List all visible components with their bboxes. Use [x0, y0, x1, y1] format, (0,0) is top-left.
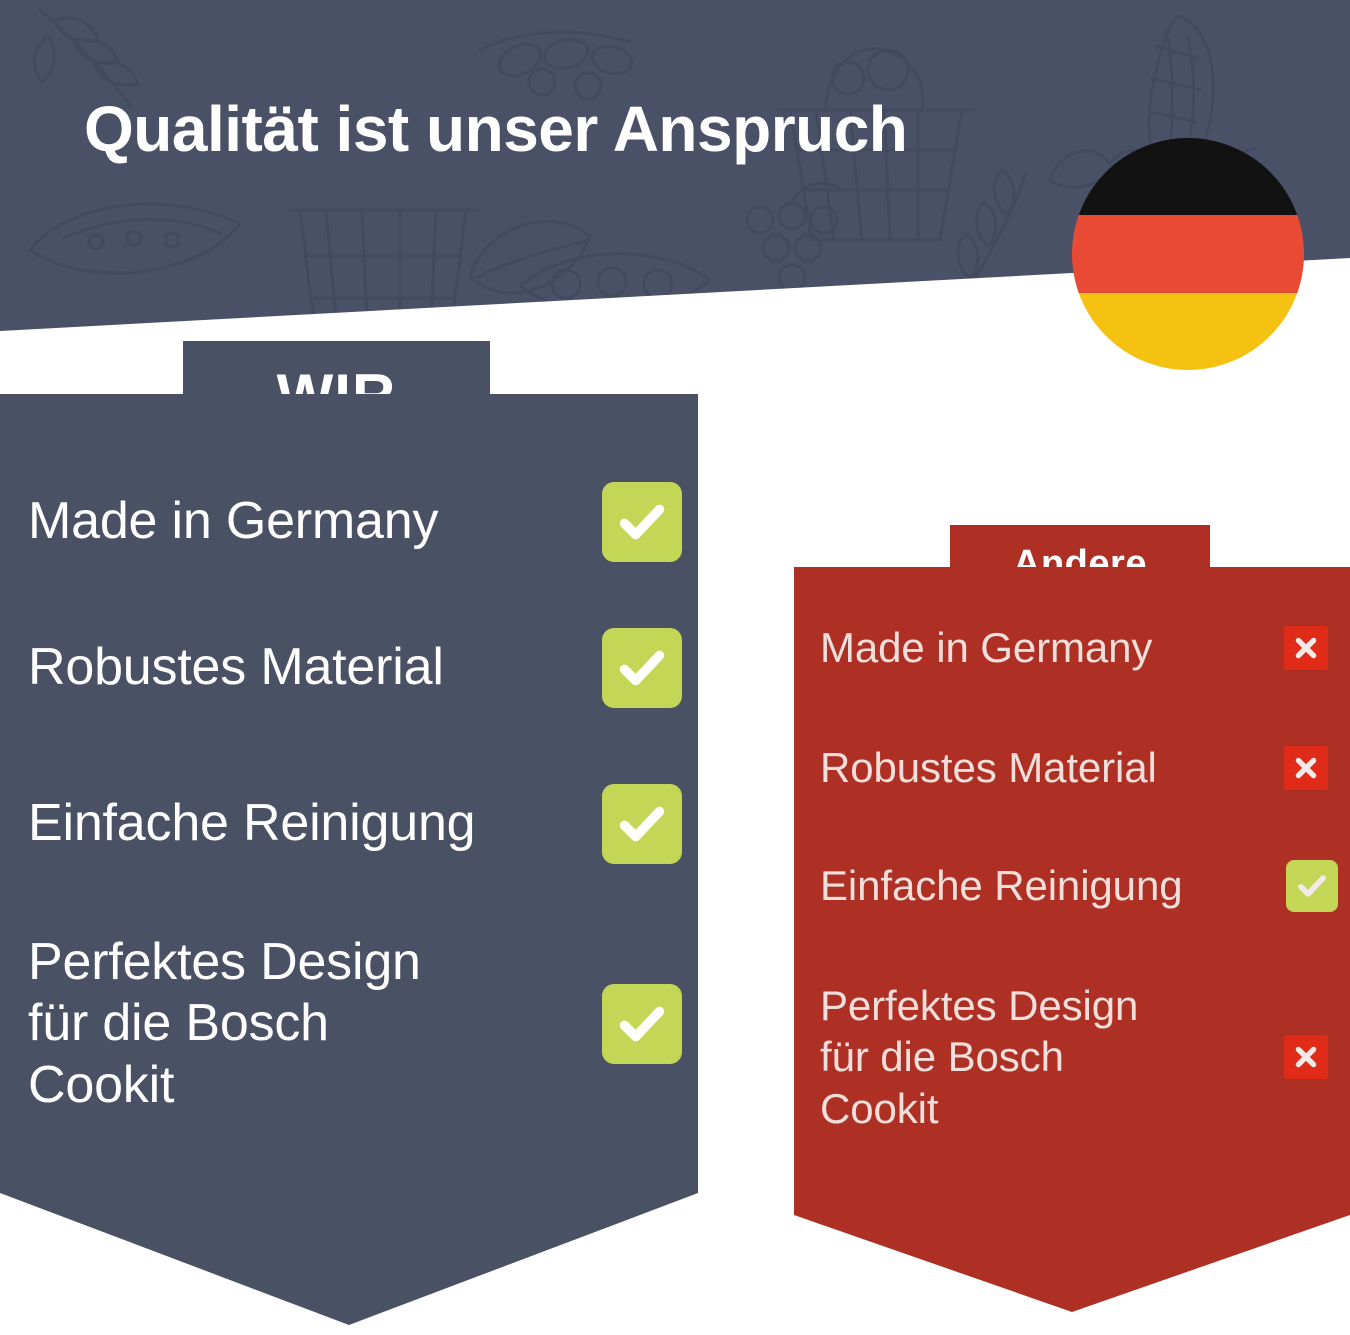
list-item: Einfache Reinigung: [820, 860, 1338, 912]
germany-flag-icon: [1072, 138, 1304, 370]
list-item-label: Perfektes Design für die Bosch Cookit: [28, 932, 421, 1116]
list-item: Robustes Material: [820, 742, 1328, 794]
list-item: Einfache Reinigung: [28, 784, 682, 864]
cross-icon: [1284, 1035, 1328, 1079]
list-item: Robustes Material: [28, 628, 682, 708]
cross-icon: [1284, 626, 1328, 670]
check-icon: [1286, 860, 1338, 912]
flag-band-red: [1072, 215, 1304, 292]
page-title: Qualität ist unser Anspruch: [84, 96, 907, 163]
comparison-infographic: Qualität ist unser Anspruch WIR Made in …: [0, 0, 1350, 1335]
panel-wir-body: Made in Germany Robustes Material Einfac…: [0, 394, 698, 1325]
list-item: Perfektes Design für die Bosch Cookit: [820, 972, 1328, 1142]
list-item-label: Made in Germany: [28, 491, 438, 552]
list-item-label: Robustes Material: [820, 742, 1157, 793]
check-icon: [602, 784, 682, 864]
panel-wir-tab: WIR: [183, 341, 490, 397]
list-item: Made in Germany: [820, 622, 1328, 674]
list-item-label: Perfektes Design für die Bosch Cookit: [820, 980, 1138, 1134]
cross-icon: [1284, 746, 1328, 790]
flag-band-gold: [1072, 293, 1304, 370]
list-item: Made in Germany: [28, 482, 682, 562]
check-icon: [602, 628, 682, 708]
list-item-label: Einfache Reinigung: [28, 793, 475, 854]
list-item-label: Einfache Reinigung: [820, 860, 1182, 911]
check-icon: [602, 482, 682, 562]
list-item: Perfektes Design für die Bosch Cookit: [28, 924, 682, 1124]
check-icon: [602, 984, 682, 1064]
list-item-label: Robustes Material: [28, 637, 444, 698]
panel-andere-tab: Andere: [950, 525, 1210, 571]
panel-andere-body: Made in Germany Robustes Material Einfac…: [794, 567, 1350, 1312]
list-item-label: Made in Germany: [820, 622, 1152, 673]
